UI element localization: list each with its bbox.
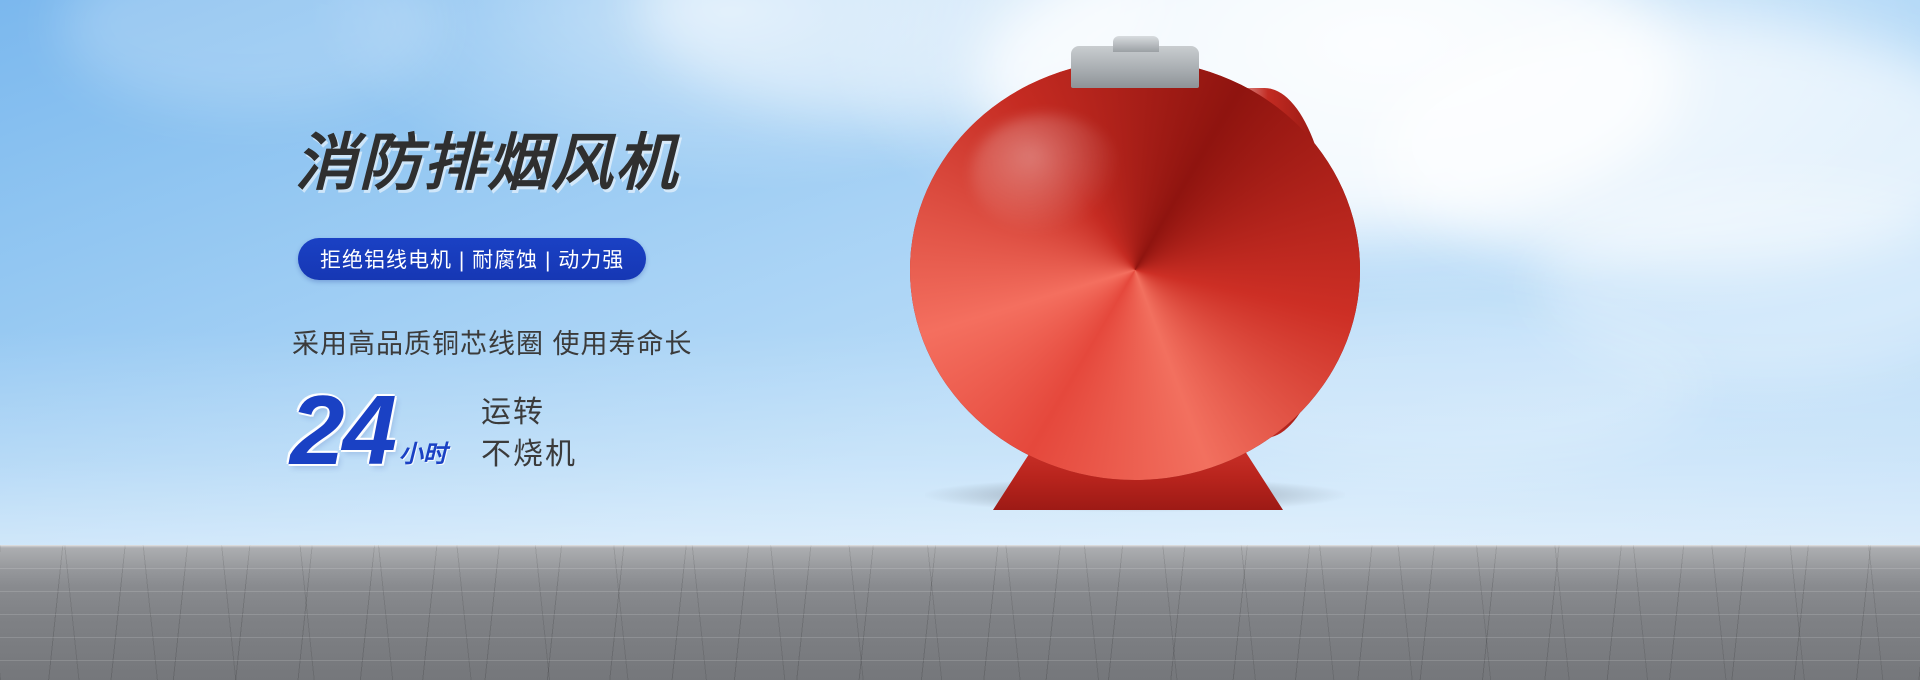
fan-motor-cap-stub xyxy=(1113,36,1159,52)
feature-badge: 拒绝铝线电机 | 耐腐蚀 | 动力强 xyxy=(298,238,646,280)
subtitle-text: 采用高品质铜芯线圈 使用寿命长 xyxy=(292,322,693,361)
claim-number-group: 24 小时 xyxy=(290,385,447,475)
banner-copy-block: 消防排烟风机 拒绝铝线电机 | 耐腐蚀 | 动力强 采用高品质铜芯线圈 使用寿命… xyxy=(0,0,760,545)
fan-housing-rim xyxy=(910,60,1360,480)
claim-line-1: 运转 xyxy=(481,396,577,429)
claim-number-unit: 小时 xyxy=(399,434,447,469)
claim-block: 24 小时 运转 不烧机 xyxy=(290,385,577,475)
product-hero-banner: 消防排烟风机 拒绝铝线电机 | 耐腐蚀 | 动力强 采用高品质铜芯线圈 使用寿命… xyxy=(0,0,1920,680)
product-image-axial-fan xyxy=(885,40,1405,530)
fan-motor-cover xyxy=(1071,46,1199,88)
claim-number: 24 xyxy=(290,385,395,475)
claim-text-lines: 运转 不烧机 xyxy=(481,396,577,471)
page-title: 消防排烟风机 xyxy=(295,112,679,202)
ground-horizon-edge xyxy=(0,545,1920,548)
brick-pavement-ground xyxy=(0,545,1920,680)
claim-line-2: 不烧机 xyxy=(481,438,577,471)
